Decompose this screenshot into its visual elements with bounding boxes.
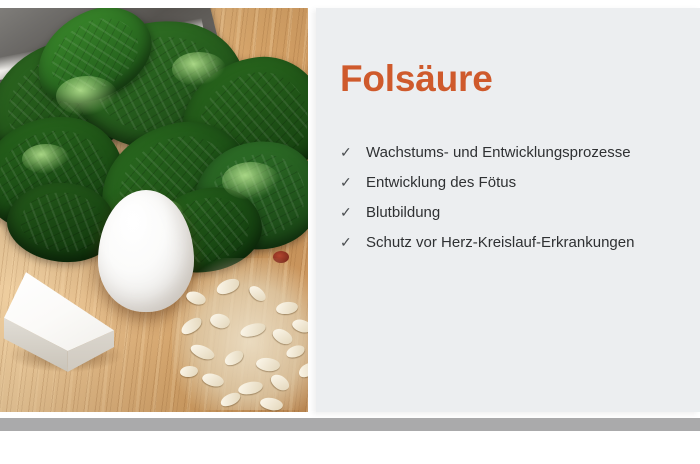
cheese-wedge	[4, 270, 114, 374]
list-item: ✓ Schutz vor Herz-Kreislauf-Erkrankungen	[340, 234, 700, 264]
nutrient-info-card: Folsäure ✓ Wachstums- und Entwicklungspr…	[0, 8, 700, 412]
check-icon: ✓	[340, 235, 366, 249]
list-item: ✓ Blutbildung	[340, 204, 700, 234]
nutrient-text-panel: Folsäure ✓ Wachstums- und Entwicklungspr…	[316, 8, 700, 412]
check-icon: ✓	[340, 145, 366, 159]
list-item: ✓ Wachstums- und Entwicklungsprozesse	[340, 144, 700, 174]
benefit-label: Entwicklung des Fötus	[366, 174, 516, 191]
list-item: ✓ Entwicklung des Fötus	[340, 174, 700, 204]
benefit-label: Wachstums- und Entwicklungsprozesse	[366, 144, 631, 161]
egg-highlight	[118, 204, 152, 248]
oat-flakes	[172, 258, 308, 410]
benefit-label: Schutz vor Herz-Kreislauf-Erkrankungen	[366, 234, 634, 251]
food-photo	[0, 8, 308, 412]
check-icon: ✓	[340, 175, 366, 189]
check-icon: ✓	[340, 205, 366, 219]
benefits-list: ✓ Wachstums- und Entwicklungsprozesse ✓ …	[340, 144, 700, 264]
benefit-label: Blutbildung	[366, 204, 440, 221]
page-title: Folsäure	[340, 60, 493, 99]
footer-divider-bar	[0, 418, 700, 431]
